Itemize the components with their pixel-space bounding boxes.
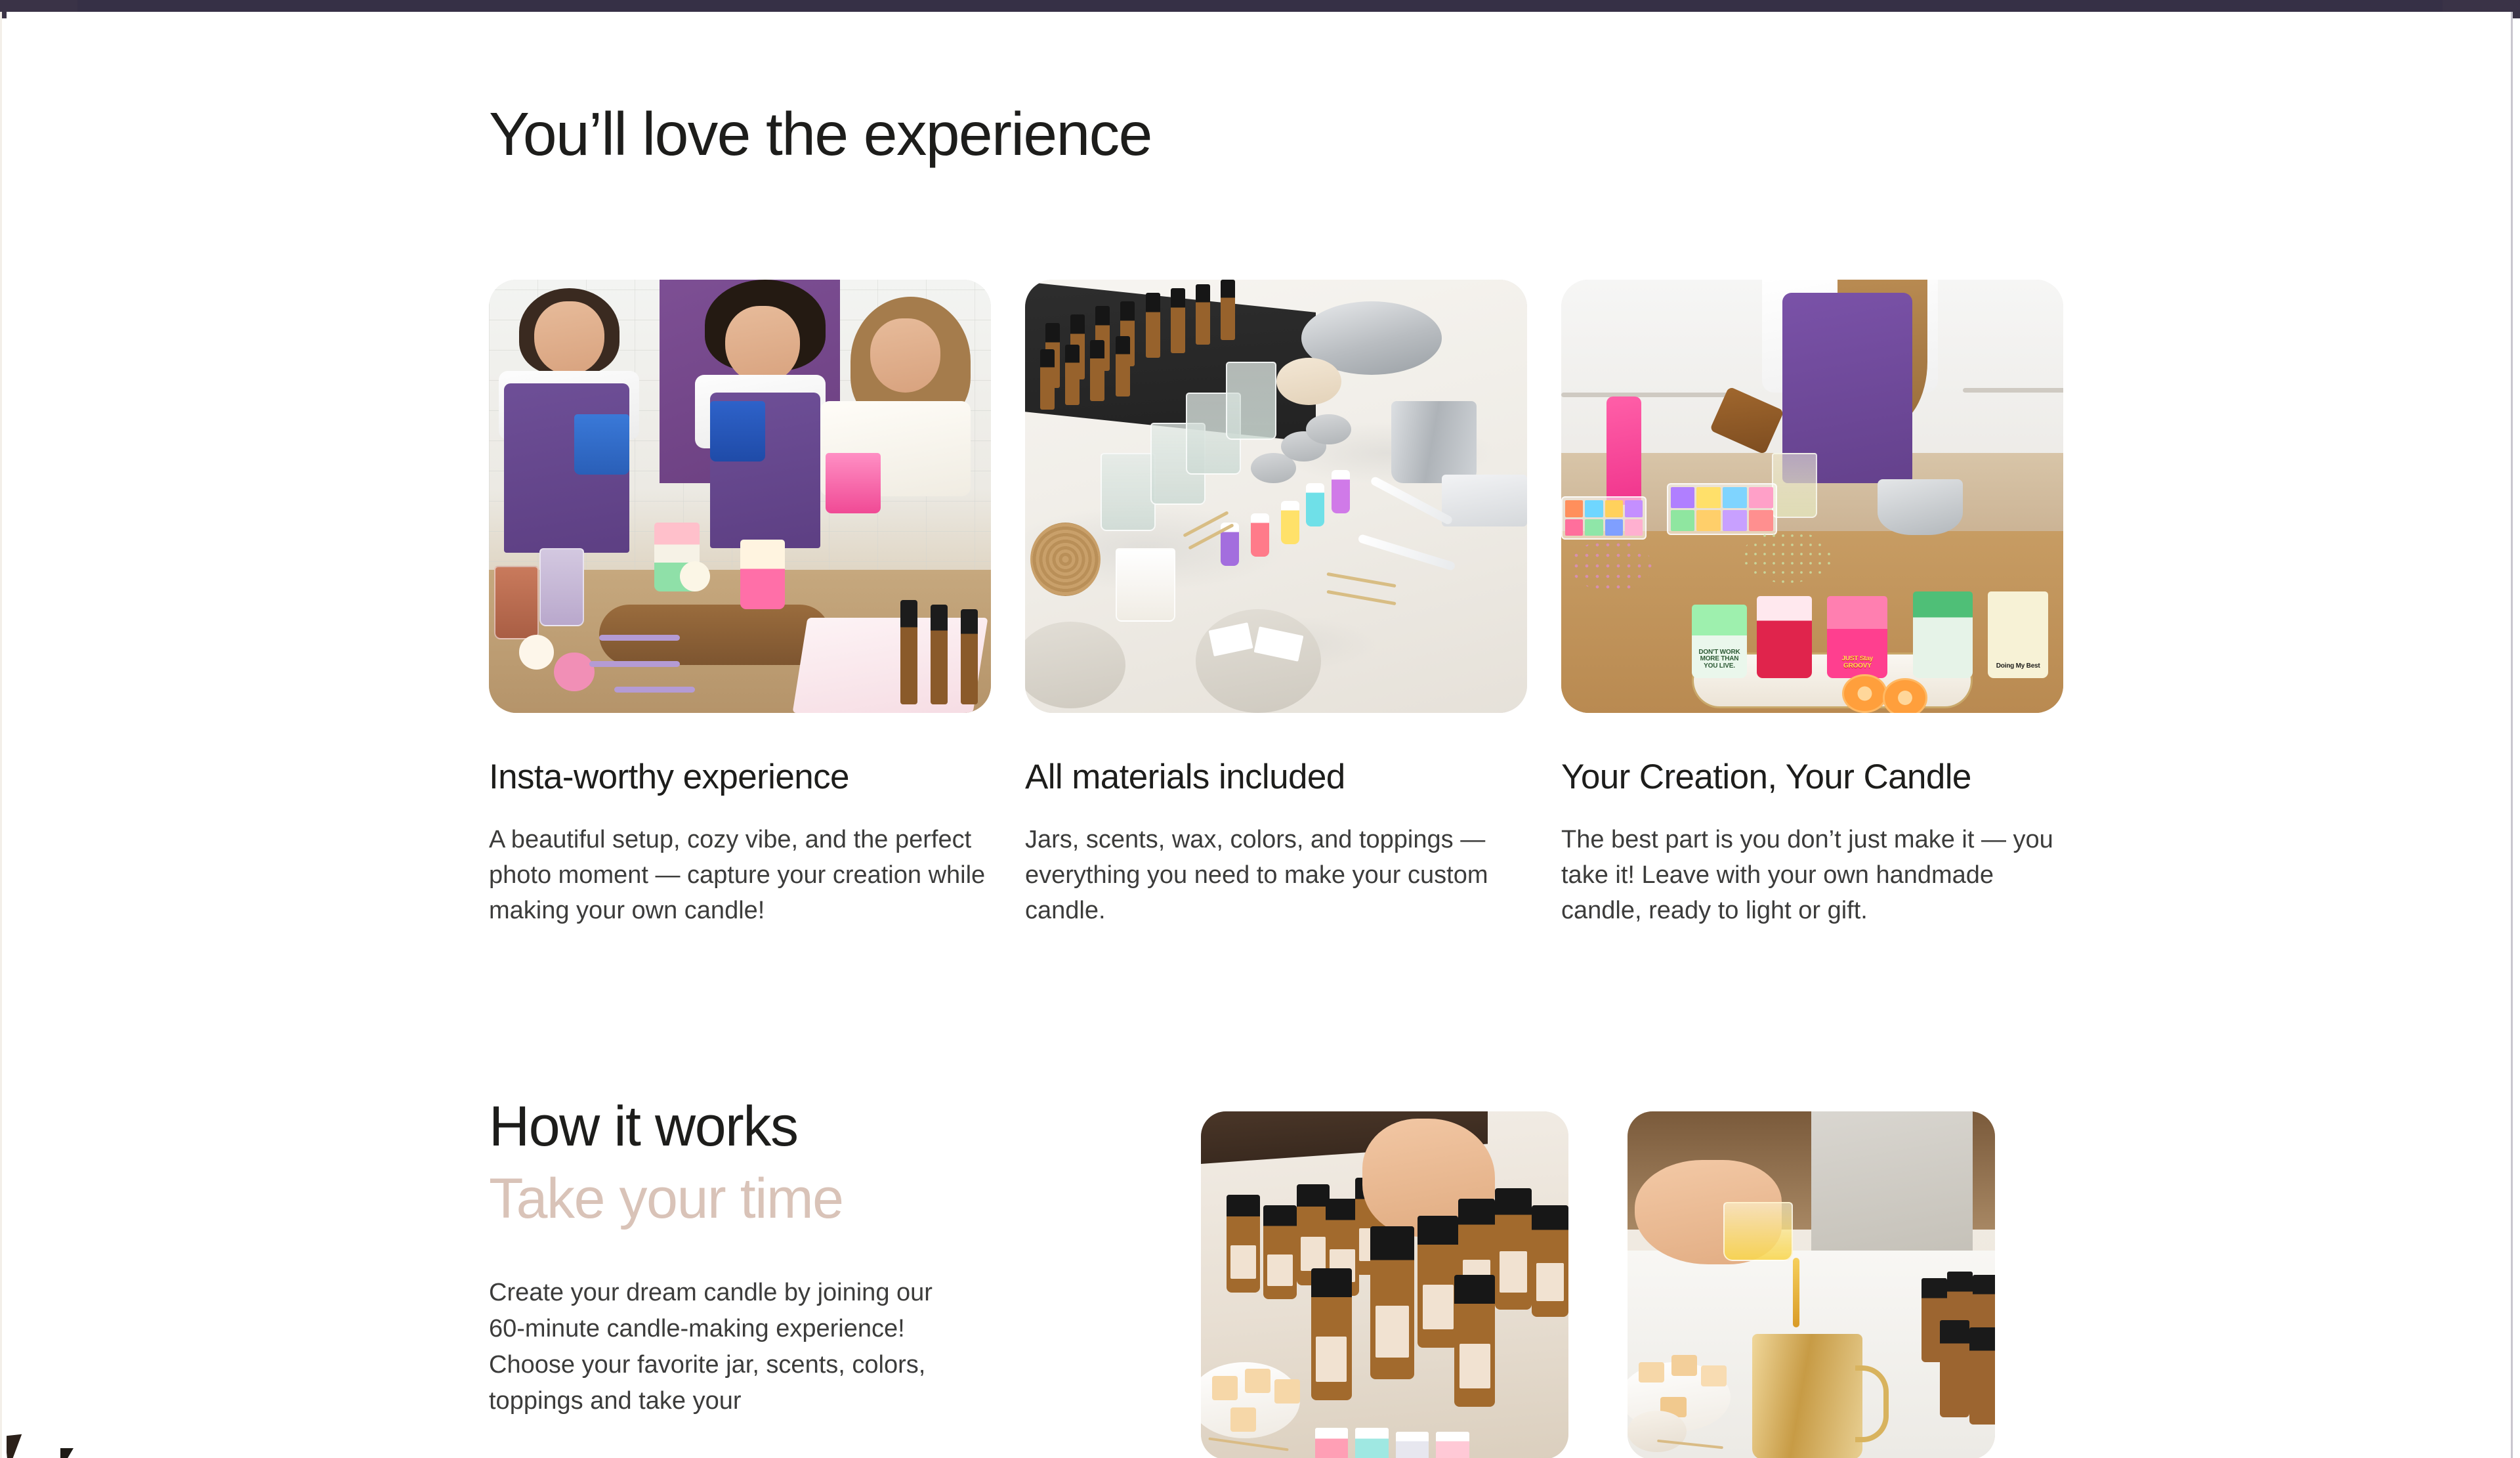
shelf-bottle-7	[1196, 284, 1210, 345]
all-materials-included-photo[interactable]	[1025, 280, 1527, 713]
feature-card-title: Your Creation, Your Candle	[1561, 758, 2063, 798]
desk-edge-left	[1561, 393, 1732, 397]
amber-bottle-1	[1227, 1195, 1259, 1292]
desk-edge-right	[1963, 388, 2063, 393]
orange-slice-1	[1842, 674, 1887, 713]
dropper-bottle-1	[900, 600, 917, 704]
mini-bottle-teal	[1355, 1428, 1388, 1458]
color-bottle-pink	[1251, 513, 1269, 557]
feature-card-body: Jars, scents, wax, colors, and toppings …	[1025, 823, 1524, 929]
photo-canvas	[1627, 1111, 1995, 1458]
glass-beaker	[1772, 453, 1817, 518]
wax-cube-1	[1212, 1376, 1238, 1400]
face-center	[725, 306, 801, 384]
how-it-works-subtitle: Take your time	[489, 1170, 975, 1227]
browser-chrome-bar	[0, 0, 2520, 12]
glass-measuring-beaker	[1723, 1202, 1793, 1261]
shelf-bottle-6	[1171, 288, 1185, 353]
shelf-bottle-12	[1116, 336, 1130, 397]
candle-sticker-1: DON'T WORK MORE THAN YOU LIVE.	[1697, 649, 1742, 670]
tin-3	[1306, 414, 1351, 444]
viewport-edge-left	[0, 12, 2, 1458]
steel-mixing-bowl	[1878, 479, 1963, 536]
photo-canvas	[489, 280, 991, 713]
twine-ball	[1030, 523, 1101, 596]
glass-jar-1	[1101, 453, 1156, 531]
wax-cube-4	[1230, 1407, 1256, 1432]
fragrance-bottles-photo[interactable]	[1201, 1111, 1568, 1458]
how-it-works-title: How it works	[489, 1098, 975, 1155]
feature-card-title: All materials included	[1025, 758, 1527, 798]
gold-pouring-pitcher	[1752, 1334, 1862, 1458]
wax-cube-3	[1274, 1379, 1300, 1404]
candle-blue-center	[710, 401, 765, 461]
flower-pink-1	[554, 653, 594, 691]
dye-organizer-center	[1667, 483, 1777, 535]
flower-white-1	[519, 635, 555, 670]
candle-pink-right	[826, 453, 881, 513]
amber-bottle-eucalyptus	[1311, 1268, 1352, 1400]
amber-bottle-oud	[1370, 1226, 1414, 1379]
paper-cup	[1116, 548, 1176, 622]
candle-sticker-3: Doing My Best	[1993, 663, 2044, 670]
amber-bottle-sandalwood	[1454, 1275, 1495, 1407]
amber-bottle-6	[1417, 1216, 1458, 1348]
dried-herbs-center	[1742, 531, 1832, 583]
wax-cube-2	[1671, 1355, 1697, 1376]
feature-card-title: Insta-worthy experience	[489, 758, 991, 798]
wax-cube-1	[1639, 1362, 1664, 1383]
candle-red	[1757, 596, 1812, 678]
person-cardigan	[1811, 1111, 1973, 1272]
mini-bottle-rose	[1436, 1432, 1469, 1458]
shelf-bottle-11	[1090, 340, 1104, 400]
spoon-1	[599, 635, 679, 641]
feature-card-all-materials[interactable]: All materials included Jars, scents, wax…	[1025, 280, 1527, 929]
photo-canvas	[1201, 1111, 1568, 1458]
page-title: You’ll love the experience	[489, 100, 1152, 167]
small-bowl	[1627, 1411, 1687, 1453]
insta-worthy-experience-photo[interactable]	[489, 280, 991, 713]
dried-flowers-left	[1571, 540, 1651, 591]
color-bottle-cyan	[1306, 483, 1324, 526]
face-right	[870, 318, 940, 392]
color-bottle-violet	[1332, 470, 1350, 513]
amber-bottle-5	[1969, 1327, 1995, 1425]
jar-petals	[494, 566, 539, 639]
feature-card-your-creation[interactable]: DON'T WORK MORE THAN YOU LIVE. JUST Stay…	[1561, 280, 2063, 929]
pouring-wax-photo[interactable]	[1627, 1111, 1995, 1458]
dye-organizer-left	[1561, 496, 1647, 540]
color-bottle-yellow	[1281, 501, 1299, 544]
glass-jar-4	[1226, 362, 1276, 440]
viewport-edge-right[interactable]	[2511, 12, 2513, 1458]
feature-cards-row: Insta-worthy experience A beautiful setu…	[489, 280, 2064, 929]
amber-bottle-2	[1263, 1205, 1296, 1299]
pink-squeeze-bottle	[1606, 397, 1642, 505]
how-it-works-text-column: How it works Take your time Create your …	[489, 1098, 975, 1419]
oil-pour-stream	[1793, 1258, 1799, 1327]
candle-sticker-2: JUST Stay GROOVY	[1832, 656, 1883, 670]
dropper-bottle-2	[931, 605, 948, 704]
digital-scale	[1442, 475, 1527, 526]
wax-cube-3	[1701, 1365, 1727, 1386]
mini-bottle-pink	[1315, 1428, 1348, 1458]
feature-card-body: The best part is you don’t just make it …	[1561, 823, 2060, 929]
photo-canvas	[1025, 280, 1527, 713]
page-body: You’ll love the experience	[7, 12, 2511, 1458]
candle-green-topped	[1913, 591, 1973, 678]
dropper-bottle-3	[961, 609, 978, 704]
ceramic-bowl	[1276, 358, 1341, 406]
wick-sticks	[1209, 1437, 1290, 1451]
shelf-bottle-10	[1065, 345, 1080, 405]
your-creation-your-candle-photo[interactable]: DON'T WORK MORE THAN YOU LIVE. JUST Stay…	[1561, 280, 2063, 713]
pitcher-handle	[1855, 1365, 1888, 1442]
spoon-3	[614, 687, 694, 693]
amber-bottle-4	[1940, 1320, 1969, 1417]
herb-bowl	[1196, 609, 1321, 713]
instruction-mat	[793, 618, 988, 713]
cursor-artifact-right	[60, 1448, 73, 1458]
shelf-bottle-5	[1146, 293, 1160, 358]
amber-bottle-8	[1495, 1188, 1532, 1310]
candle-layered-2	[740, 540, 786, 609]
candle-blue-left	[574, 414, 629, 475]
jar-toppings	[539, 548, 585, 626]
steel-pitcher	[1391, 401, 1477, 483]
amber-bottle-9	[1532, 1205, 1568, 1317]
mini-bottle-clear	[1396, 1432, 1429, 1458]
shelf-bottle-8	[1221, 280, 1235, 340]
shelf-bottle-9	[1040, 349, 1055, 410]
flower-white-2	[680, 561, 710, 591]
face-left	[534, 301, 604, 375]
feature-card-body: A beautiful setup, cozy vibe, and the pe…	[489, 823, 988, 929]
how-it-works-body: Create your dream candle by joining our …	[489, 1275, 961, 1419]
wax-cube-2	[1245, 1369, 1270, 1393]
photo-canvas: DON'T WORK MORE THAN YOU LIVE. JUST Stay…	[1561, 280, 2063, 713]
feature-card-insta-worthy[interactable]: Insta-worthy experience A beautiful setu…	[489, 280, 991, 929]
how-it-works-photo-row	[1201, 1111, 1995, 1458]
cursor-artifact-left	[7, 1434, 26, 1458]
orange-slice-2	[1883, 678, 1928, 713]
spoon-2	[589, 661, 680, 667]
